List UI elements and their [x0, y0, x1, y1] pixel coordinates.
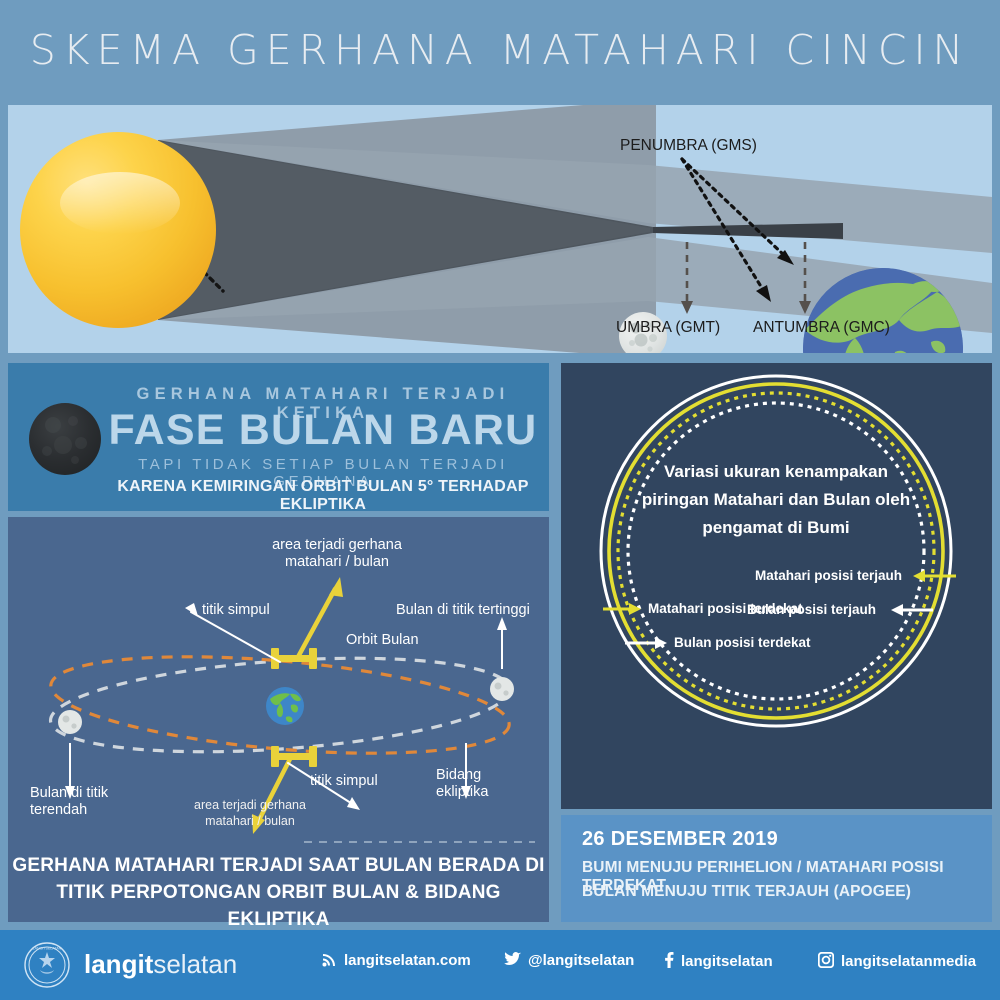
label-eclipse-area-bottom: area terjadi gerhana matahari / bulan: [186, 797, 314, 829]
label-penumbra: PENUMBRA (GMS): [620, 137, 757, 155]
footer-link-facebook[interactable]: langitselatan: [664, 952, 773, 972]
label-moon-farthest: Bulan posisi terjauh: [747, 602, 876, 617]
twitter-icon: [504, 952, 521, 971]
sun-icon: [20, 132, 216, 328]
title-bar: SKEMA GERHANA MATAHARI CINCIN: [0, 0, 1000, 97]
footer-link-website[interactable]: langitselatan.com: [322, 952, 471, 971]
apparent-size-panel: Variasi ukuran kenampakan piringan Matah…: [561, 363, 992, 809]
label-node-bottom: titik simpul: [310, 773, 378, 790]
new-moon-headline: FASE BULAN BARU: [108, 407, 538, 453]
date-panel: 26 DESEMBER 2019 BUMI MENUJU PERIHELION …: [561, 815, 992, 922]
label-moon-orbit: Orbit Bulan: [346, 632, 419, 649]
label-eclipse-area-top: area terjadi gerhana matahari / bulan: [267, 537, 407, 571]
earth-small-icon: [266, 687, 304, 725]
sun-highlight: [60, 172, 180, 234]
orbit-caption: GERHANA MATAHARI TERJADI SAAT BULAN BERA…: [8, 852, 549, 933]
brand-wordmark[interactable]: langitselatan: [84, 949, 237, 980]
label-moon-highest: Bulan di titik tertinggi: [396, 602, 530, 619]
eclipse-geometry-panel: PENUMBRA (GMS) UMBRA (GMT) ANTUMBRA (GMC…: [8, 105, 992, 353]
footer-bar: LANGITSELATAN langitselatan langitselata…: [0, 930, 1000, 1000]
footer-link-instagram-text: langitselatanmedia: [841, 953, 976, 970]
langitselatan-seal-logo[interactable]: LANGITSELATAN: [24, 942, 70, 988]
date-note-2: BULAN MENUJU TITIK TERJAUH (APOGEE): [582, 883, 911, 901]
label-sun-farthest: Matahari posisi terjauh: [755, 568, 902, 583]
apparent-size-rings: [561, 363, 992, 809]
footer-link-facebook-text: langitselatan: [681, 953, 773, 970]
apparent-size-title: Variasi ukuran kenampakan piringan Matah…: [621, 458, 931, 542]
label-ecliptic-plane: Bidang ekliptika: [436, 767, 488, 801]
new-moon-panel: GERHANA MATAHARI TERJADI KETIKA FASE BUL…: [8, 363, 549, 511]
label-node-top: titik simpul: [202, 602, 270, 619]
footer-link-website-text: langitselatan.com: [344, 952, 471, 969]
label-umbra: UMBRA (GMT): [616, 319, 720, 337]
label-moon-lowest: Bulan di titik terendah: [30, 785, 108, 819]
footer-link-instagram[interactable]: langitselatanmedia: [818, 952, 976, 972]
infographic-root: SKEMA GERHANA MATAHARI CINCIN: [0, 0, 1000, 1000]
footer-link-twitter-text: @langitselatan: [528, 952, 634, 969]
facebook-icon: [664, 952, 674, 972]
new-moon-line4: KARENA KEMIRINGAN ORBIT BULAN 5° TERHADA…: [108, 478, 538, 514]
new-moon-icon: [29, 403, 101, 475]
rss-icon: [322, 952, 337, 971]
label-moon-closest: Bulan posisi terdekat: [674, 635, 811, 650]
instagram-icon: [818, 952, 834, 972]
page-title: SKEMA GERHANA MATAHARI CINCIN: [0, 26, 1000, 74]
footer-link-twitter[interactable]: @langitselatan: [504, 952, 634, 971]
eclipse-date: 26 DESEMBER 2019: [582, 828, 778, 851]
brand-bold: langit: [84, 949, 153, 979]
seal-text: LANGITSELATAN: [33, 947, 62, 951]
brand-light: selatan: [153, 949, 237, 979]
label-antumbra: ANTUMBRA (GMC): [753, 319, 890, 337]
